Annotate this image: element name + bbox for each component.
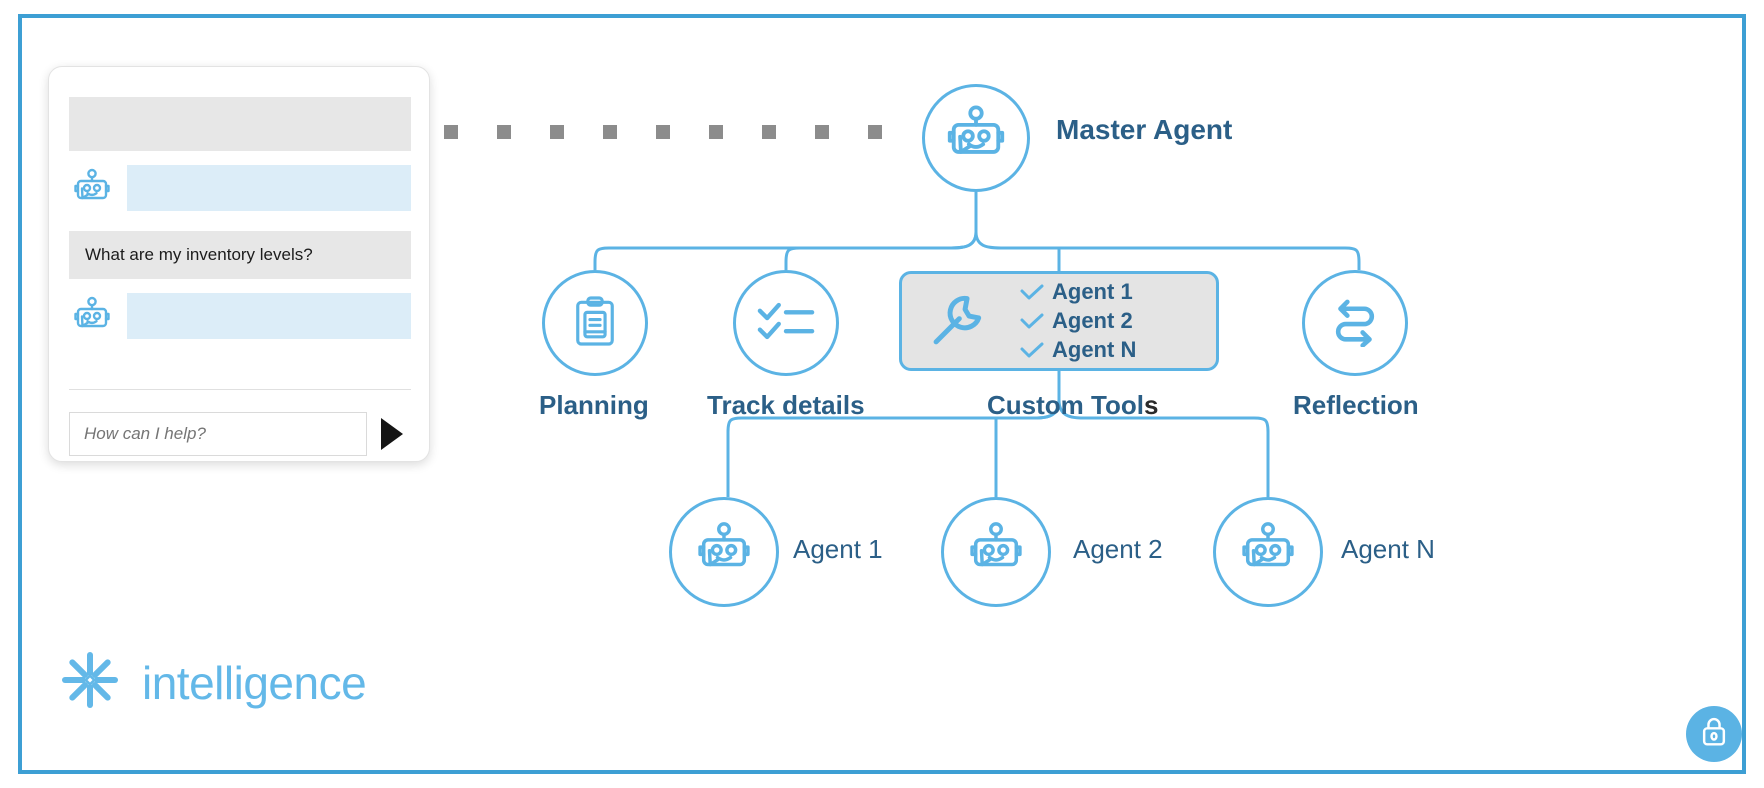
master-agent-label: Master Agent	[1056, 114, 1232, 146]
sub-agent-node[interactable]	[669, 497, 779, 607]
custom-tools-list: Agent 1 Agent 2 Agent N	[1012, 279, 1216, 363]
chat-bot-message-row	[69, 293, 411, 339]
sub-agent-label: Agent 1	[793, 534, 883, 565]
custom-tools-label: Custom Tools	[987, 390, 1158, 421]
checklist-icon	[757, 300, 815, 347]
custom-tools-item-label: Agent N	[1052, 337, 1136, 363]
wrench-icon	[902, 290, 1012, 352]
robot-icon	[941, 104, 1011, 173]
planning-node[interactable]	[542, 270, 648, 376]
reflection-label: Reflection	[1293, 390, 1419, 421]
connector-dot	[762, 125, 776, 139]
chat-bot-message-row	[69, 165, 411, 211]
snowflake-icon	[58, 648, 122, 717]
lock-icon	[1699, 716, 1729, 753]
connector-dot	[868, 125, 882, 139]
connector-dot	[603, 125, 617, 139]
custom-tools-box[interactable]: Agent 1 Agent 2 Agent N	[899, 271, 1219, 371]
robot-icon	[692, 521, 756, 584]
planning-label: Planning	[539, 390, 649, 421]
screenshot-canvas: What are my inventory levels?	[0, 0, 1764, 788]
check-icon	[1012, 341, 1052, 359]
custom-tools-item[interactable]: Agent 2	[1012, 308, 1208, 334]
chat-bot-bubble	[127, 293, 411, 339]
custom-tools-item[interactable]: Agent N	[1012, 337, 1208, 363]
clipboard-icon	[572, 295, 618, 352]
robot-icon	[964, 521, 1028, 584]
chat-panel: What are my inventory levels?	[48, 66, 430, 462]
sub-agent-label: Agent 2	[1073, 534, 1163, 565]
master-agent-node[interactable]	[922, 84, 1030, 192]
connector-dot	[497, 125, 511, 139]
send-triangle-icon	[381, 418, 403, 450]
robot-icon	[1236, 521, 1300, 584]
chat-divider	[69, 389, 411, 390]
connector-dot	[709, 125, 723, 139]
send-button[interactable]	[373, 412, 411, 456]
track-details-node[interactable]	[733, 270, 839, 376]
chat-bot-bubble	[127, 165, 411, 211]
custom-tools-item-label: Agent 2	[1052, 308, 1133, 334]
connector-dot	[550, 125, 564, 139]
track-details-label: Track details	[707, 390, 865, 421]
sub-agent-node[interactable]	[1213, 497, 1323, 607]
check-icon	[1012, 312, 1052, 330]
chat-input[interactable]	[69, 412, 367, 456]
brand-name: intelligence	[142, 656, 366, 710]
connector-dot	[656, 125, 670, 139]
reflection-node[interactable]	[1302, 270, 1408, 376]
custom-tools-item[interactable]: Agent 1	[1012, 279, 1208, 305]
robot-icon	[69, 167, 115, 209]
reflect-arrows-icon	[1327, 295, 1383, 352]
lock-button[interactable]	[1686, 706, 1742, 762]
check-icon	[1012, 283, 1052, 301]
chat-input-row	[69, 411, 411, 457]
connector-dot	[444, 125, 458, 139]
connector-dot	[815, 125, 829, 139]
robot-icon	[69, 295, 115, 337]
sub-agent-node[interactable]	[941, 497, 1051, 607]
chat-user-message: What are my inventory levels?	[69, 231, 411, 279]
chat-header-placeholder	[69, 97, 411, 151]
custom-tools-label-tail: s	[1144, 390, 1158, 420]
sub-agent-label: Agent N	[1341, 534, 1435, 565]
brand-logo: intelligence	[58, 648, 366, 717]
custom-tools-label-main: Custom Tool	[987, 390, 1144, 420]
custom-tools-item-label: Agent 1	[1052, 279, 1133, 305]
